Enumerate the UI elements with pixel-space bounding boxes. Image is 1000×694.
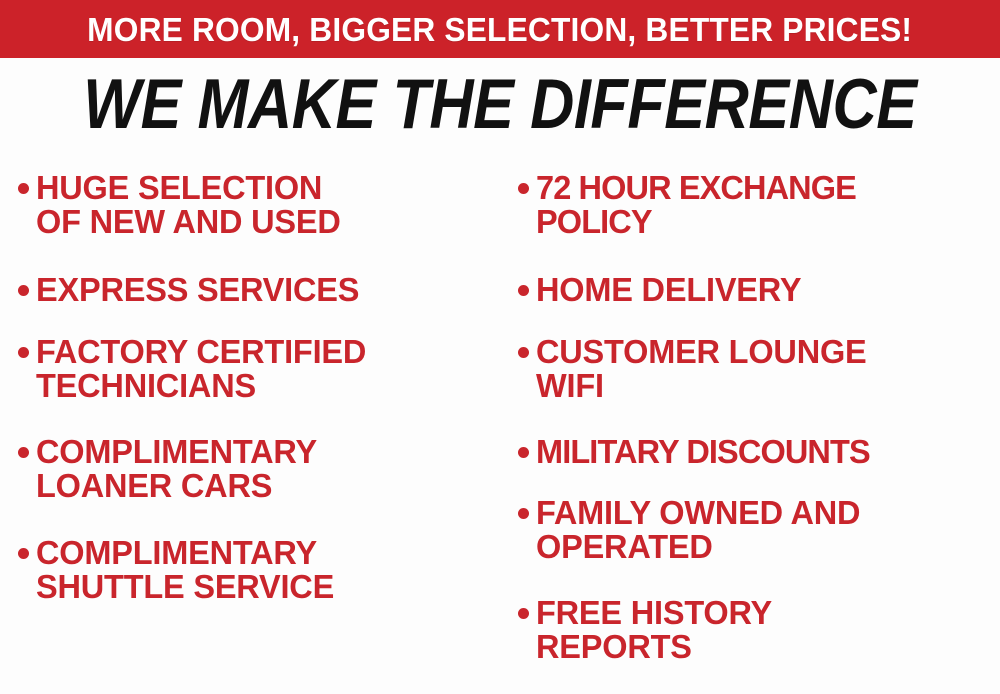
bullet-dot-icon <box>518 508 529 519</box>
advertisement-poster: MORE ROOM, BIGGER SELECTION, BETTER PRIC… <box>0 0 1000 694</box>
list-item: MILITARY DISCOUNTS <box>518 435 875 469</box>
bullet-dot-icon <box>518 183 529 194</box>
bullet-dot-icon <box>518 608 529 619</box>
bullet-dot-icon <box>18 347 29 358</box>
list-item-label: COMPLIMENTARY SHUTTLE SERVICE <box>36 536 334 604</box>
list-item-label: HOME DELIVERY <box>536 273 801 307</box>
list-item-label: COMPLIMENTARY LOANER CARS <box>36 435 317 503</box>
list-item: FACTORY CERTIFIED TECHNICIANS <box>18 335 371 403</box>
list-item-label: FREE HISTORY REPORTS <box>536 596 772 664</box>
banner-headline-text: MORE ROOM, BIGGER SELECTION, BETTER PRIC… <box>88 13 913 46</box>
main-headline: WE MAKE THE DIFFERENCE <box>83 69 916 140</box>
bullet-dot-icon <box>18 183 29 194</box>
list-item-label: CUSTOMER LOUNGE WIFI <box>536 335 867 403</box>
bullet-dot-icon <box>518 347 529 358</box>
list-item: CUSTOMER LOUNGE WIFI <box>518 335 872 403</box>
list-item-label: HUGE SELECTION OF NEW AND USED <box>36 171 341 239</box>
bullet-dot-icon <box>18 285 29 296</box>
list-item-label: FAMILY OWNED AND OPERATED <box>536 496 860 564</box>
list-item: COMPLIMENTARY LOANER CARS <box>18 435 321 503</box>
list-item: EXPRESS SERVICES <box>18 273 364 307</box>
headline-container: WE MAKE THE DIFFERENCE <box>0 66 1000 142</box>
benefits-column-left: HUGE SELECTION OF NEW AND USED EXPRESS S… <box>18 160 500 694</box>
bullet-dot-icon <box>18 548 29 559</box>
list-item-label: MILITARY DISCOUNTS <box>536 435 870 469</box>
list-item-label: EXPRESS SERVICES <box>36 273 359 307</box>
benefits-column-right: 72 HOUR EXCHANGE POLICY HOME DELIVERY CU… <box>518 160 1000 694</box>
list-item: FREE HISTORY REPORTS <box>518 596 776 664</box>
bullet-dot-icon <box>518 447 529 458</box>
list-item: FAMILY OWNED AND OPERATED <box>518 496 865 564</box>
list-item: COMPLIMENTARY SHUTTLE SERVICE <box>18 536 339 604</box>
list-item: 72 HOUR EXCHANGE POLICY <box>518 171 861 239</box>
bullet-dot-icon <box>18 447 29 458</box>
list-item: HOME DELIVERY <box>518 273 805 307</box>
list-item: HUGE SELECTION OF NEW AND USED <box>18 171 345 239</box>
top-banner: MORE ROOM, BIGGER SELECTION, BETTER PRIC… <box>0 0 1000 58</box>
list-item-label: 72 HOUR EXCHANGE POLICY <box>536 171 856 239</box>
bullet-dot-icon <box>518 285 529 296</box>
benefits-columns: HUGE SELECTION OF NEW AND USED EXPRESS S… <box>0 160 1000 694</box>
list-item-label: FACTORY CERTIFIED TECHNICIANS <box>36 335 366 403</box>
